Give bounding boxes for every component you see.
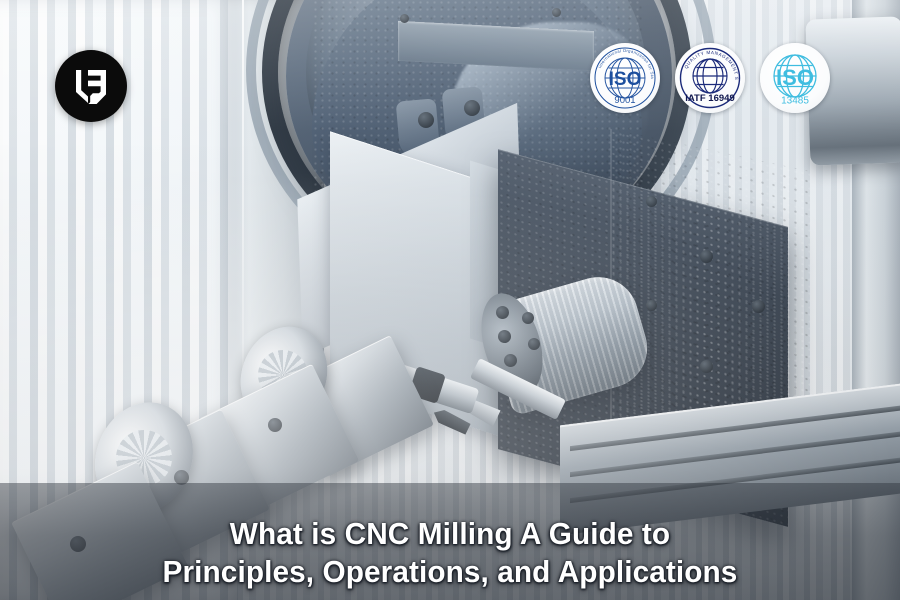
site-logo[interactable]	[55, 50, 127, 122]
badge-iso-9001[interactable]: ISO 9001 International Organization for …	[590, 43, 660, 113]
bolt-hole	[552, 8, 561, 17]
bolt-hole	[464, 100, 480, 116]
badge-iso-title: ISO	[776, 65, 814, 90]
badge-iatf-standard: IATF 16949	[685, 93, 734, 104]
turret-pocket	[522, 312, 534, 324]
hero-banner: ISO 9001 International Organization for …	[0, 0, 900, 600]
turret-pocket	[498, 330, 511, 343]
turret-pocket	[504, 354, 517, 367]
bolt-hole	[400, 14, 409, 23]
badge-iso-standard: 13485	[781, 96, 809, 107]
bolt-hole	[418, 112, 434, 128]
badge-iso-13485[interactable]: ISO 13485	[760, 43, 830, 113]
bolt-hole	[752, 300, 765, 313]
badge-iso-title: ISO	[609, 69, 642, 90]
shield-monogram-icon	[68, 63, 114, 109]
turret-pocket	[528, 338, 540, 350]
page-title-line-1: What is CNC Milling A Guide to	[230, 516, 670, 551]
bolt-hole	[646, 300, 657, 311]
badge-iatf-16949[interactable]: IATF 16949 QUALITY MANAGEMENT SYSTEM	[675, 43, 745, 113]
bolt-hole	[700, 250, 713, 263]
bed-tslot	[570, 432, 900, 478]
badge-ring-text: QUALITY MANAGEMENT SYSTEM	[677, 45, 739, 80]
svg-text:QUALITY MANAGEMENT SYSTEM: QUALITY MANAGEMENT SYSTEM	[677, 45, 739, 80]
turret-pocket	[496, 306, 509, 319]
certification-badges: ISO 9001 International Organization for …	[590, 43, 840, 115]
badge-iso-standard: 9001	[614, 95, 635, 106]
bolt-hole	[646, 196, 657, 207]
page-title: What is CNC Milling A Guide to Principle…	[18, 515, 882, 591]
workpiece-bore	[268, 418, 282, 432]
page-title-line-2: Principles, Operations, and Applications	[18, 553, 882, 591]
bolt-hole	[700, 360, 713, 373]
